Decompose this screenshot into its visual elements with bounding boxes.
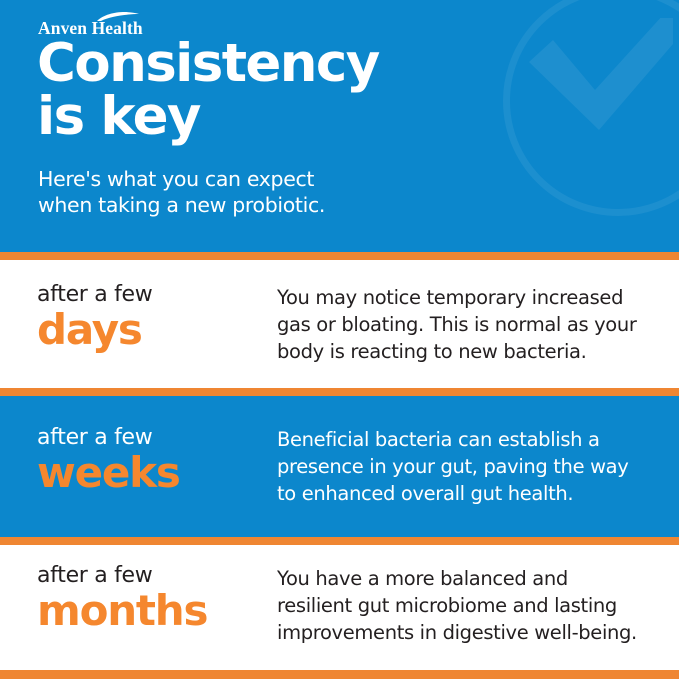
divider-bar-weeks-months [0,537,679,545]
timeline-row-days: after a few days You may notice temporar… [0,260,679,388]
page-subtitle: Here's what you can expect when taking a… [38,166,518,218]
timeline-row-months: after a few months You have a more balan… [0,545,679,670]
checkmark-circle-watermark-icon [503,0,679,216]
timeline-body-weeks-line-3: to enhanced overall gut health. [277,480,669,507]
timeline-body-days-line-2: gas or bloating. This is normal as your [277,311,669,338]
page-title-line-1: Consistency [37,37,507,90]
timeline-body-months: You have a more balanced and resilient g… [277,565,669,646]
divider-bar-top [0,252,679,260]
timeline-body-days-line-1: You may notice temporary increased [277,284,669,311]
timeline-body-months-line-3: improvements in digestive well-being. [277,619,669,646]
hero-banner: Anven Health Consistency is key Here's w… [0,0,679,252]
timeline-label-period-days: days [37,307,267,353]
timeline-body-weeks-line-1: Beneficial bacteria can establish a [277,426,669,453]
timeline-body-days: You may notice temporary increased gas o… [277,284,669,365]
infographic-canvas: Anven Health Consistency is key Here's w… [0,0,679,679]
timeline-row-weeks: after a few weeks Beneficial bacteria ca… [0,396,679,537]
timeline-label-period-weeks: weeks [37,450,267,496]
page-subtitle-line-1: Here's what you can expect [38,166,518,192]
timeline-label-months: after a few months [37,563,267,634]
page-title: Consistency is key [37,37,507,143]
divider-bar-bottom [0,670,679,679]
timeline-body-days-line-3: body is reacting to new bacteria. [277,338,669,365]
timeline-body-months-line-2: resilient gut microbiome and lasting [277,592,669,619]
timeline-label-weeks: after a few weeks [37,425,267,496]
page-subtitle-line-2: when taking a new probiotic. [38,192,518,218]
timeline-body-weeks: Beneficial bacteria can establish a pres… [277,426,669,507]
timeline-label-period-months: months [37,588,267,634]
timeline-body-months-line-1: You have a more balanced and [277,565,669,592]
divider-bar-days-weeks [0,388,679,396]
checkmark-icon [523,18,673,148]
timeline-label-days: after a few days [37,282,267,353]
page-title-line-2: is key [37,90,507,143]
timeline-body-weeks-line-2: presence in your gut, paving the way [277,453,669,480]
